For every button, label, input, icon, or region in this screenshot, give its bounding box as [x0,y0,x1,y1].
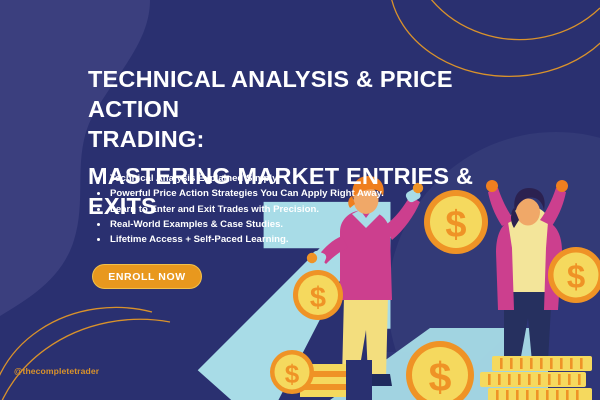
bullet-dot-icon [97,192,100,195]
list-item-label: Lifetime Access + Self-Paced Learning. [110,234,289,245]
social-handle: @thecompletetrader [14,366,99,376]
list-item: Real-World Examples & Case Studies. [110,218,410,232]
list-item-label: Powerful Price Action Strategies You Can… [110,188,384,199]
list-item-label: Learn to Enter and Exit Trades with Prec… [110,204,319,215]
headline-line-1: Technical Analysis & Price Action [88,64,540,124]
bullet-dot-icon [97,208,100,211]
bullet-dot-icon [97,177,100,180]
bullet-dot-icon [97,238,100,241]
feature-list: Technical Analysis Explained Simply. Pow… [92,172,410,248]
list-item-label: Technical Analysis Explained Simply. [110,173,279,184]
list-item: Technical Analysis Explained Simply. [110,172,410,186]
list-item-label: Real-World Examples & Case Studies. [110,219,283,230]
enroll-now-button[interactable]: Enroll Now [92,264,202,289]
content-layer: Technical Analysis & Price Action Tradin… [0,0,600,400]
list-item: Lifetime Access + Self-Paced Learning. [110,233,410,247]
headline-line-2: Trading: [88,124,540,154]
poster-canvas: $ $ $ $ $ Technical Analysis & Price Act… [0,0,600,400]
list-item: Learn to Enter and Exit Trades with Prec… [110,203,410,217]
list-item: Powerful Price Action Strategies You Can… [110,187,410,201]
bullet-dot-icon [97,223,100,226]
